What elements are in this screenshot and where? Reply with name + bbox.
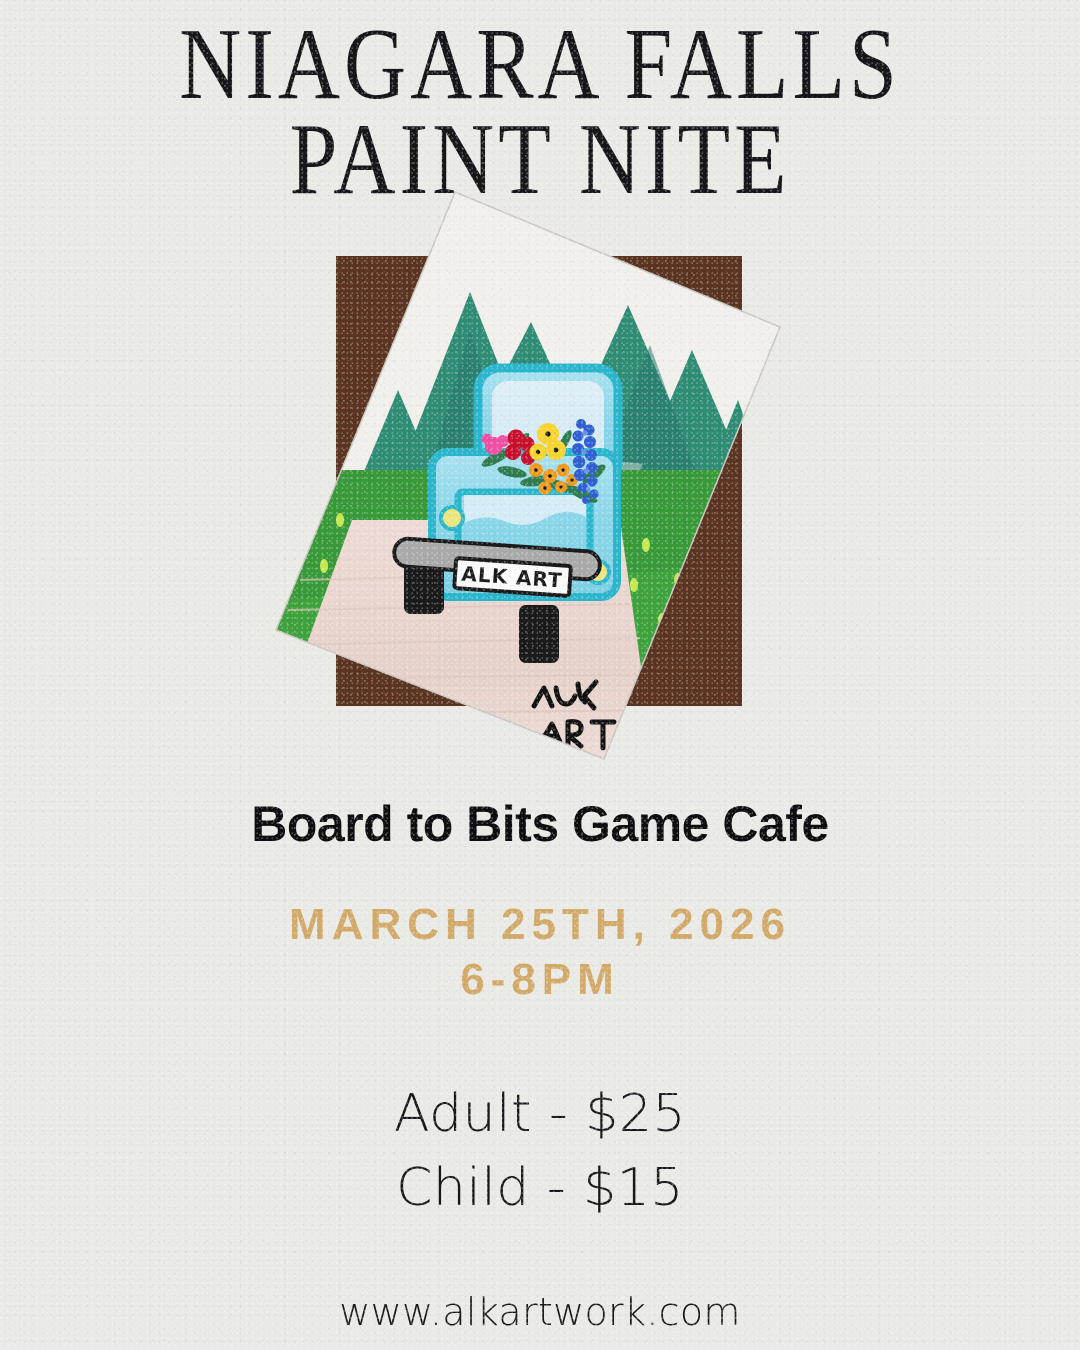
poster-title: NIAGARA FALLS PAINT NITE — [0, 14, 1080, 194]
date-time-block: MARCH 25TH, 2026 6-8PM — [0, 898, 1080, 1007]
event-time: 6-8PM — [0, 953, 1080, 1008]
title-line-2: PAINT NITE — [0, 109, 1080, 209]
tire-right — [519, 605, 559, 663]
title-line-1: NIAGARA FALLS — [0, 14, 1080, 114]
venue-name: Board to Bits Game Cafe — [0, 795, 1080, 853]
pricing-block: Adult - $25 Child - $15 — [0, 1078, 1080, 1226]
headlight-left — [441, 507, 463, 529]
event-date: MARCH 25TH, 2026 — [0, 898, 1080, 953]
price-adult: Adult - $25 — [0, 1078, 1080, 1152]
price-child: Child - $15 — [0, 1152, 1080, 1226]
website-url[interactable]: www.alkartwork.com — [0, 1290, 1080, 1334]
